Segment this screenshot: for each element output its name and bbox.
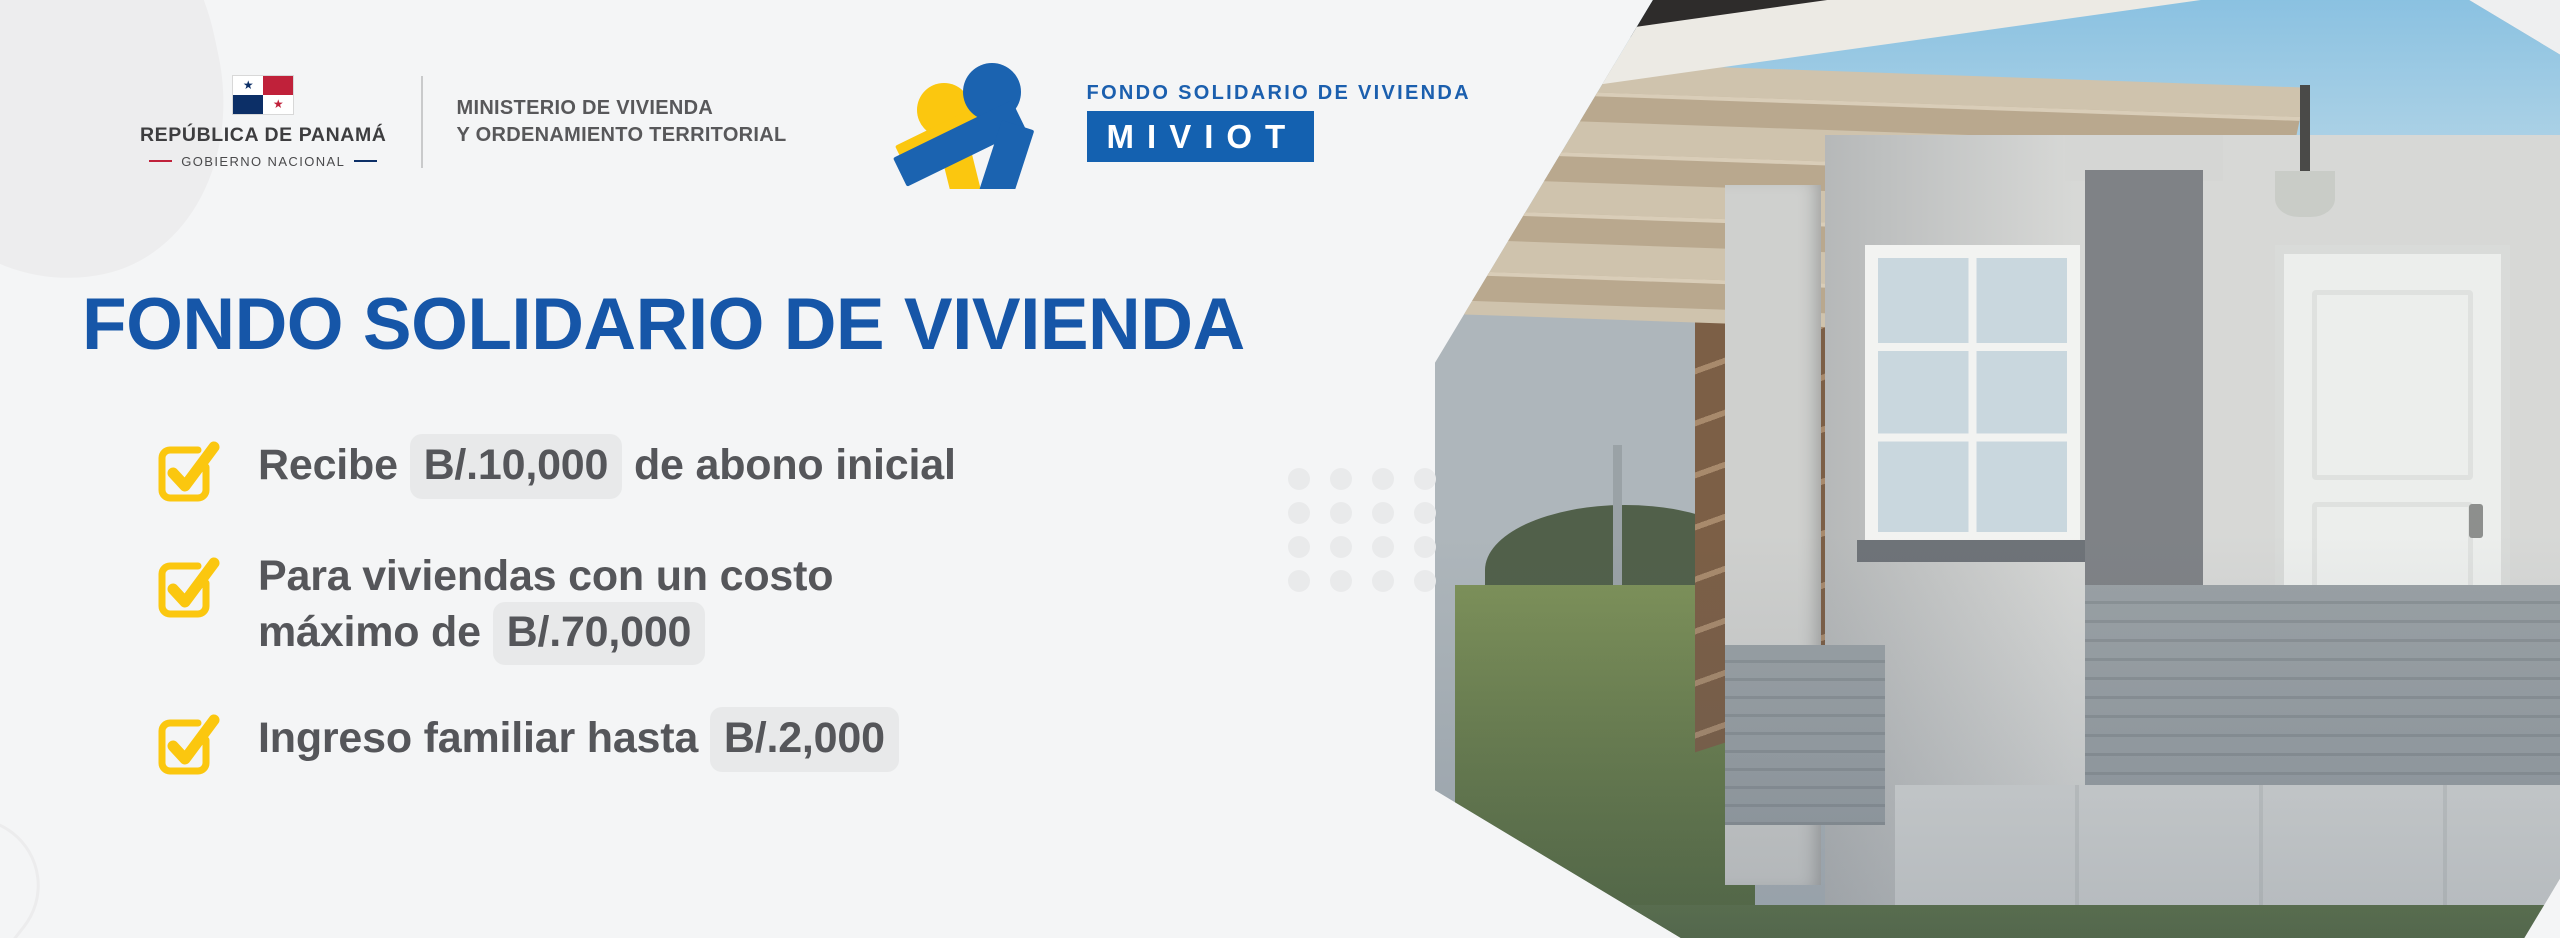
- header-logos: ★ ★ REPÚBLICA DE PANAMÁ GOBIERNO NACIONA…: [0, 54, 1471, 189]
- photo-inner: [1435, 0, 2560, 938]
- panama-identity-block: ★ ★ REPÚBLICA DE PANAMÁ GOBIERNO NACIONA…: [140, 75, 417, 169]
- decorative-pill-bottom-left: [0, 790, 67, 938]
- miviot-wordmark: MIVIOT: [1107, 118, 1299, 155]
- miviot-wordmark-bar: MIVIOT: [1087, 111, 1315, 162]
- benefit-line-1: Para viviendas con un costo: [258, 552, 833, 600]
- check-square-icon: [150, 434, 224, 508]
- list-item: Recibe B/.10,000 de abono inicial: [150, 430, 956, 508]
- benefit-amount: B/.10,000: [410, 434, 623, 499]
- list-item: Para viviendas con un costo máximo de B/…: [150, 546, 956, 665]
- benefit-amount: B/.2,000: [710, 707, 899, 772]
- divider-line-red: [149, 160, 172, 162]
- benefit-text: Para viviendas con un costo máximo de B/…: [258, 546, 833, 665]
- benefit-text: Ingreso familiar hasta B/.2,000: [258, 703, 899, 772]
- benefits-list: Recibe B/.10,000 de abono inicial Para v…: [150, 430, 956, 781]
- benefit-text: Recibe B/.10,000 de abono inicial: [258, 430, 956, 499]
- miviot-wordmark-block: FONDO SOLIDARIO DE VIVIENDA MIVIOT: [1087, 82, 1471, 162]
- benefit-amount: B/.70,000: [493, 602, 706, 664]
- photo-tint: [1435, 0, 2560, 938]
- government-label: GOBIERNO NACIONAL: [181, 154, 345, 169]
- benefit-suffix: de abono inicial: [634, 441, 956, 489]
- benefit-prefix: Recibe: [258, 441, 398, 489]
- check-square-icon: [150, 550, 224, 624]
- photo-scene: [1435, 0, 2560, 938]
- banner-root: ★ ★ REPÚBLICA DE PANAMÁ GOBIERNO NACIONA…: [0, 0, 2560, 938]
- country-label: REPÚBLICA DE PANAMÁ: [140, 124, 387, 147]
- list-item: Ingreso familiar hasta B/.2,000: [150, 703, 956, 781]
- ministry-line-2: Y ORDENAMIENTO TERRITORIAL: [457, 122, 787, 148]
- divider-line-blue: [354, 160, 377, 162]
- miviot-logo: FONDO SOLIDARIO DE VIVIENDA MIVIOT: [885, 54, 1471, 189]
- government-lockup: ★ ★ REPÚBLICA DE PANAMÁ GOBIERNO NACIONA…: [140, 75, 787, 169]
- ministry-line-1: MINISTERIO DE VIVIENDA: [457, 95, 787, 121]
- benefit-prefix: máximo de: [258, 608, 481, 656]
- government-label-row: GOBIERNO NACIONAL: [149, 154, 377, 169]
- page-title: FONDO SOLIDARIO DE VIVIENDA: [82, 288, 1245, 361]
- benefit-prefix: Ingreso familiar hasta: [258, 714, 698, 762]
- panama-flag-icon: ★ ★: [232, 75, 294, 115]
- ministry-name: MINISTERIO DE VIVIENDA Y ORDENAMIENTO TE…: [457, 95, 787, 148]
- check-square-icon: [150, 707, 224, 781]
- decorative-dot-grid: [1288, 468, 1456, 604]
- miviot-tagline: FONDO SOLIDARIO DE VIVIENDA: [1087, 82, 1471, 105]
- vertical-divider: [421, 76, 423, 168]
- miviot-figure-icon: [885, 54, 1065, 189]
